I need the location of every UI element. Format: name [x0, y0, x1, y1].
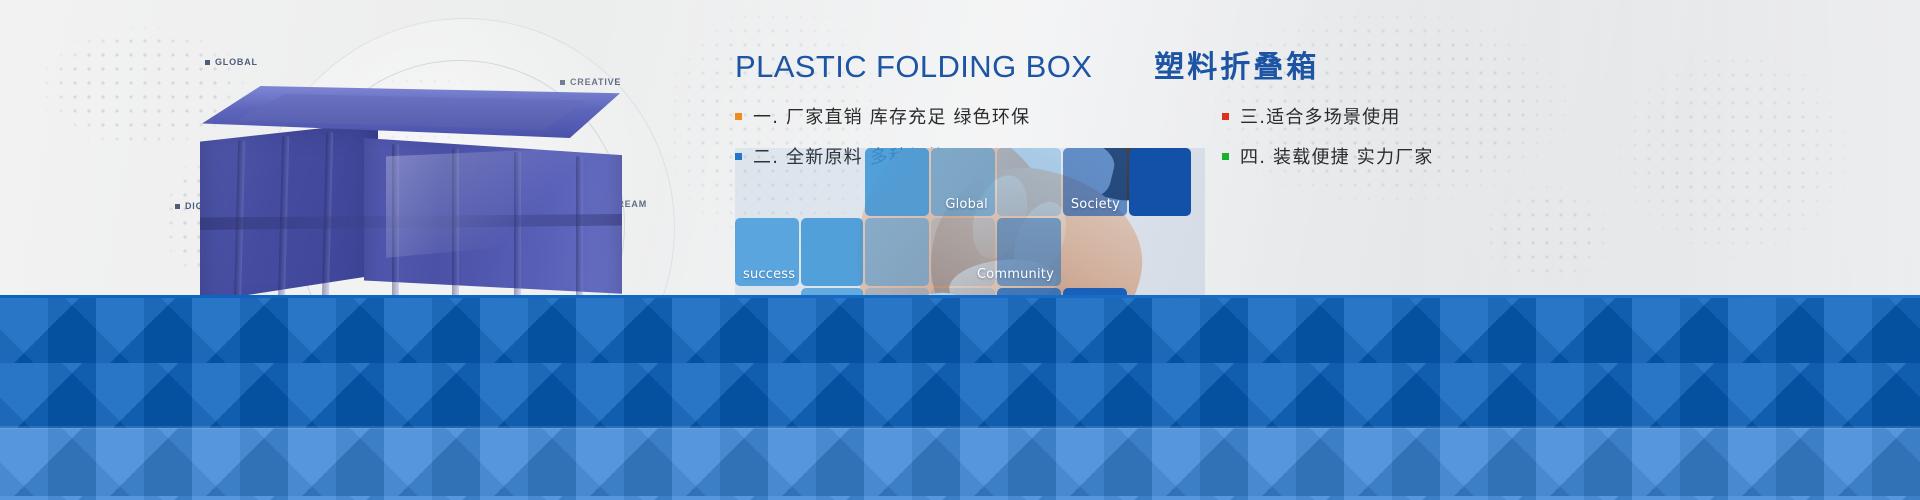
feature-label: 一. 厂家直销 库存充足 绿色环保: [753, 103, 1030, 129]
tile-caption: Global: [945, 197, 988, 212]
band-top-edge: [0, 295, 1920, 298]
band-upper: [0, 295, 1920, 428]
mosaic-tile: [865, 148, 929, 216]
triangle-pattern: [0, 428, 1920, 500]
bullet-square-icon: [735, 113, 742, 120]
mosaic-tile: Community: [997, 218, 1061, 286]
bottom-blue-band: [0, 295, 1920, 500]
mosaic-tile: [1129, 148, 1191, 216]
tile-caption: Community: [977, 267, 1054, 282]
mosaic-tile: [865, 218, 929, 286]
mosaic-tile: [997, 148, 1061, 216]
feature-item: 一. 厂家直销 库存充足 绿色环保: [735, 96, 1215, 136]
feature-item: 三.适合多场景使用: [1222, 96, 1652, 136]
feature-label: 三.适合多场景使用: [1240, 103, 1401, 129]
map-marker-label: GLOBAL: [215, 57, 258, 67]
map-marker-global: GLOBAL: [205, 57, 258, 67]
headline-english: PLASTIC FOLDING BOX: [735, 49, 1092, 85]
marker-square-icon: [205, 60, 210, 65]
feature-list-column-2: 三.适合多场景使用 四. 装载便捷 实力厂家: [1222, 96, 1652, 176]
feature-item: 四. 装载便捷 实力厂家: [1222, 136, 1652, 176]
headline-chinese: 塑料折叠箱: [1154, 42, 1319, 86]
triangle-pattern: [0, 295, 1920, 428]
bullet-square-icon: [1222, 113, 1229, 120]
feature-label: 四. 装载便捷 实力厂家: [1240, 143, 1434, 169]
headline-row: PLASTIC FOLDING BOX 塑料折叠箱: [735, 42, 1319, 86]
tile-caption: success: [743, 267, 795, 282]
mosaic-tile: Society: [1063, 148, 1127, 216]
mosaic-tile: [801, 218, 863, 286]
marker-square-icon: [175, 204, 180, 209]
mosaic-tile: success: [735, 218, 799, 286]
mosaic-tile: Global: [931, 148, 995, 216]
product-banner: GLOBAL DIGITAL CREATIVE DREAM: [0, 0, 1920, 500]
band-lower: [0, 428, 1920, 500]
bullet-square-icon: [1222, 153, 1229, 160]
tile-caption: Society: [1071, 197, 1120, 212]
band-divider: [0, 426, 1920, 429]
